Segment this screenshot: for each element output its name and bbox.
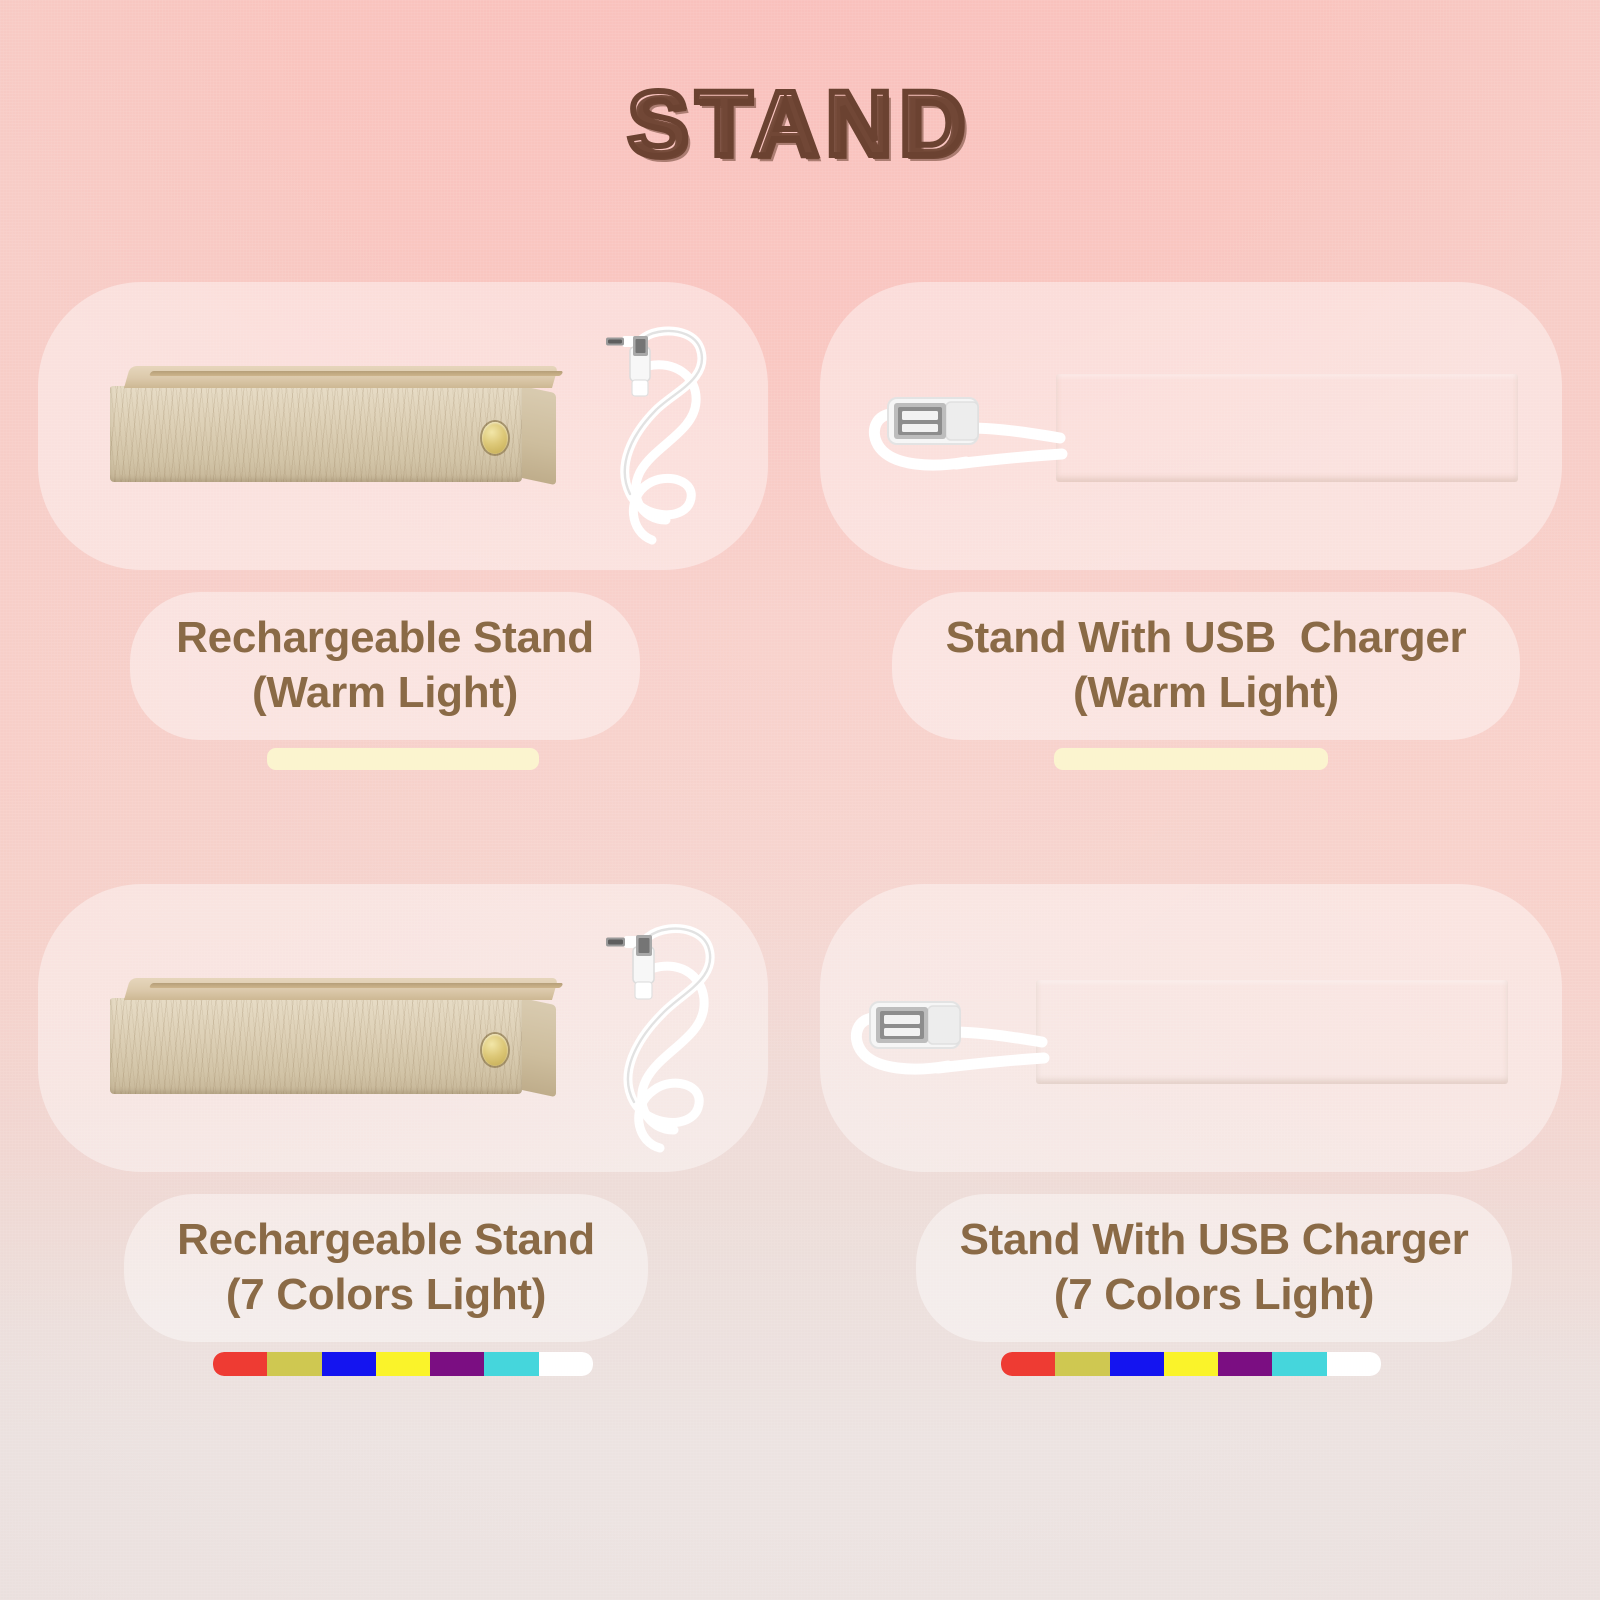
color-swatch-purple bbox=[1218, 1352, 1272, 1376]
power-button-icon bbox=[482, 422, 508, 454]
product-name-line1: Rechargeable Stand bbox=[164, 610, 606, 665]
product-name-line1: Stand With USB Charger bbox=[926, 610, 1486, 665]
product-photo-card bbox=[38, 884, 768, 1172]
product-name-line2: (7 Colors Light) bbox=[158, 1267, 614, 1322]
usb-stand-wood-block bbox=[1036, 980, 1508, 1084]
product-name-line2: (Warm Light) bbox=[164, 665, 606, 720]
color-swatch-red bbox=[213, 1352, 267, 1376]
wooden-rechargeable-stand-image bbox=[110, 366, 552, 482]
usb-stand-wood-block bbox=[1056, 374, 1518, 482]
stand-right-side bbox=[522, 998, 556, 1097]
coiled-dc-cable-image bbox=[578, 902, 748, 1164]
color-swatch-yellow bbox=[376, 1352, 430, 1376]
product-name-line1: Rechargeable Stand bbox=[158, 1212, 614, 1267]
stand-display-slot bbox=[149, 983, 564, 988]
color-swatch-white bbox=[1327, 1352, 1381, 1376]
product-label-pill: Rechargeable Stand (Warm Light) bbox=[130, 592, 640, 740]
color-swatch-olive bbox=[1055, 1352, 1109, 1376]
product-name-line2: (7 Colors Light) bbox=[950, 1267, 1478, 1322]
stand-top-surface bbox=[124, 366, 558, 388]
power-button-icon bbox=[482, 1034, 508, 1066]
product-photo-card bbox=[38, 282, 768, 570]
product-name-line1: Stand With USB Charger bbox=[950, 1212, 1478, 1267]
usb-connector-cable-image bbox=[842, 980, 1057, 1090]
product-label-pill: Stand With USB Charger (Warm Light) bbox=[892, 592, 1520, 740]
product-block-usb-charger-7colors: Stand With USB Charger (7 Colors Light) bbox=[820, 884, 1562, 1376]
color-swatch-blue bbox=[322, 1352, 376, 1376]
stand-front-face bbox=[110, 386, 522, 482]
coiled-dc-cable-image bbox=[578, 306, 738, 556]
product-block-rechargeable-warm: Rechargeable Stand (Warm Light) bbox=[38, 282, 768, 770]
seven-color-light-indicator-bar bbox=[1001, 1352, 1381, 1376]
page-title: STAND bbox=[0, 78, 1600, 170]
usb-connector-cable-image bbox=[860, 376, 1075, 486]
color-swatch-blue bbox=[1110, 1352, 1164, 1376]
stand-display-slot bbox=[149, 371, 564, 376]
color-swatch-cyan bbox=[484, 1352, 538, 1376]
product-block-usb-charger-warm: Stand With USB Charger (Warm Light) bbox=[820, 282, 1562, 770]
color-swatch-olive bbox=[267, 1352, 321, 1376]
color-swatch-red bbox=[1001, 1352, 1055, 1376]
color-swatch-purple bbox=[430, 1352, 484, 1376]
warm-light-indicator-bar bbox=[1054, 748, 1328, 770]
product-block-rechargeable-7colors: Rechargeable Stand (7 Colors Light) bbox=[38, 884, 768, 1376]
product-photo-card bbox=[820, 282, 1562, 570]
color-swatch-yellow bbox=[1164, 1352, 1218, 1376]
color-swatch-white bbox=[539, 1352, 593, 1376]
color-swatch-cyan bbox=[1272, 1352, 1326, 1376]
product-label-pill: Stand With USB Charger (7 Colors Light) bbox=[916, 1194, 1512, 1342]
stand-front-face bbox=[110, 998, 522, 1094]
product-name-line2: (Warm Light) bbox=[926, 665, 1486, 720]
warm-light-indicator-bar bbox=[267, 748, 539, 770]
infographic-page: STAND bbox=[0, 0, 1600, 1600]
stand-right-side bbox=[522, 386, 556, 485]
product-label-pill: Rechargeable Stand (7 Colors Light) bbox=[124, 1194, 648, 1342]
wooden-rechargeable-stand-image bbox=[110, 978, 552, 1094]
product-photo-card bbox=[820, 884, 1562, 1172]
seven-color-light-indicator-bar bbox=[213, 1352, 593, 1376]
stand-top-surface bbox=[124, 978, 558, 1000]
